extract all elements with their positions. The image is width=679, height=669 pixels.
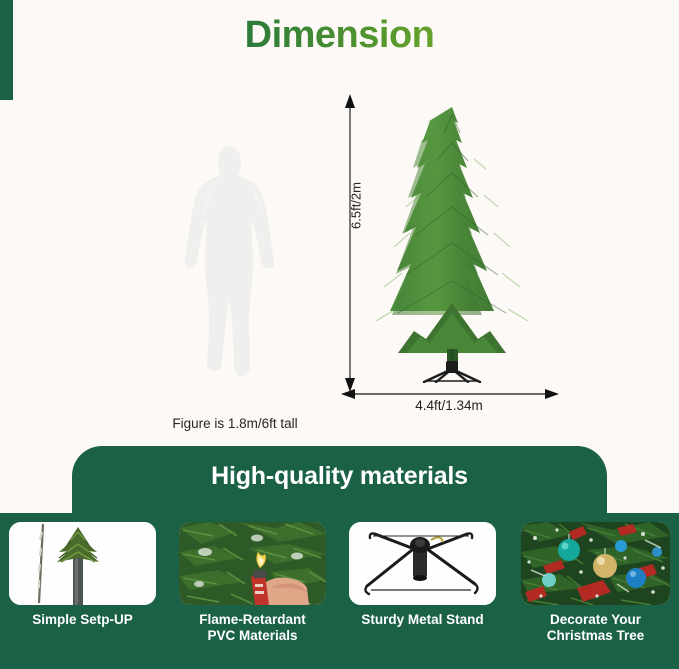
christmas-tree-icon — [352, 103, 552, 383]
feature-label: Decorate Your Christmas Tree — [521, 612, 670, 644]
feature-card[interactable]: Sturdy Metal Stand — [349, 522, 496, 628]
feature-card[interactable]: Simple Setp-UP — [9, 522, 156, 628]
decorated-tree-ornaments-photo — [521, 522, 670, 605]
page-title: Dimension — [0, 14, 679, 57]
feature-label-line2: Christmas Tree — [521, 628, 670, 644]
feature-card[interactable]: Decorate Your Christmas Tree — [521, 522, 670, 644]
feature-label: Sturdy Metal Stand — [349, 612, 496, 628]
metal-tree-stand-photo — [349, 522, 496, 605]
features-section: Simple Setp-UP — [0, 513, 679, 669]
dimension-section: Dimension Figure is 1.8m/6ft tall — [0, 0, 679, 513]
feature-card[interactable]: Flame-Retardant PVC Materials — [179, 522, 326, 644]
feature-label-line1: Decorate Your — [521, 612, 670, 628]
lighter-flame-branch-photo — [179, 522, 326, 605]
width-dimension-label: 4.4ft/1.34m — [349, 398, 549, 413]
feature-label: Flame-Retardant PVC Materials — [179, 612, 326, 644]
height-dimension-label: 6.5ft/2m — [349, 161, 364, 251]
feature-label: Simple Setp-UP — [9, 612, 156, 628]
materials-banner-title: High-quality materials — [0, 462, 679, 491]
figure-caption: Figure is 1.8m/6ft tall — [90, 416, 380, 431]
tree-pole-branch-photo — [9, 522, 156, 605]
human-silhouette-icon — [172, 143, 294, 408]
feature-label-line2: PVC Materials — [179, 628, 326, 644]
feature-label-line1: Flame-Retardant — [179, 612, 326, 628]
